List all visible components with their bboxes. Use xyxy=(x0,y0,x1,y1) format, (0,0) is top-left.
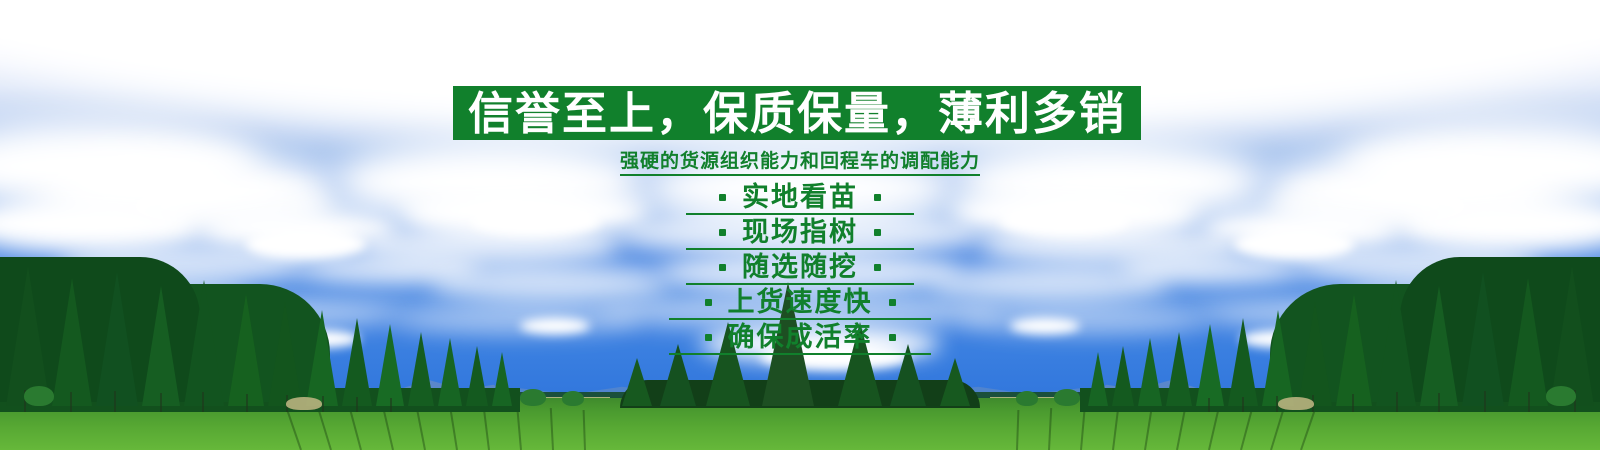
square-dot-icon xyxy=(889,299,896,306)
conifer-tree xyxy=(466,346,488,406)
tree-trunk xyxy=(1438,393,1440,412)
feature-item: 实地看苗 xyxy=(0,180,1600,215)
feature-label: 现场指树 xyxy=(726,219,874,246)
bush xyxy=(520,389,546,406)
feature-item: 确保成活率 xyxy=(0,320,1600,355)
feature-underline xyxy=(669,353,931,355)
conifer-tree xyxy=(492,352,512,406)
conifer-tree xyxy=(622,358,652,406)
feature-label: 实地看苗 xyxy=(726,184,874,211)
tree-trunk xyxy=(1352,394,1354,412)
bush xyxy=(24,386,54,406)
soil-mound xyxy=(286,397,322,410)
bush xyxy=(1546,386,1576,406)
square-dot-icon xyxy=(705,334,712,341)
conifer-tree xyxy=(1112,346,1134,406)
bush xyxy=(1016,391,1038,406)
headline-text: 信誉至上，保质保量，薄利多销 xyxy=(453,86,1141,140)
subtitle: 强硬的货源组织能力和回程车的调配能力 xyxy=(0,146,1600,173)
conifer-tree xyxy=(940,358,970,406)
feature-item: 现场指树 xyxy=(0,215,1600,250)
tree-trunk xyxy=(1484,391,1486,412)
tree-trunk xyxy=(1396,392,1398,412)
square-dot-icon xyxy=(719,264,726,271)
tree-trunk xyxy=(114,391,116,412)
tree-trunk xyxy=(1208,398,1210,412)
feature-item: 随选随挖 xyxy=(0,250,1600,285)
feature-label: 确保成活率 xyxy=(712,324,889,351)
tree-trunk xyxy=(202,392,204,412)
tree-trunk xyxy=(356,397,358,412)
tree-trunk xyxy=(160,393,162,412)
tree-trunk xyxy=(246,394,248,412)
square-dot-icon xyxy=(719,194,726,201)
bush xyxy=(1054,389,1080,406)
tree-trunk xyxy=(1528,392,1530,412)
tree-trunk xyxy=(322,396,324,412)
square-dot-icon xyxy=(874,229,881,236)
square-dot-icon xyxy=(874,264,881,271)
square-dot-icon xyxy=(719,229,726,236)
tree-trunk xyxy=(390,398,392,412)
promo-banner: 信誉至上，保质保量，薄利多销 强硬的货源组织能力和回程车的调配能力 实地看苗 现… xyxy=(0,0,1600,450)
square-dot-icon xyxy=(705,299,712,306)
soil-mound xyxy=(1278,397,1314,410)
bush xyxy=(562,391,584,406)
feature-label: 随选随挖 xyxy=(726,254,874,281)
conifer-tree xyxy=(1088,352,1108,406)
tree-trunk xyxy=(70,392,72,412)
subtitle-text: 强硬的货源组织能力和回程车的调配能力 xyxy=(620,150,980,176)
tree-trunk xyxy=(1242,397,1244,412)
square-dot-icon xyxy=(874,194,881,201)
feature-label: 上货速度快 xyxy=(712,289,889,316)
feature-list: 实地看苗 现场指树 随选随挖 上货速度快 确保成活率 xyxy=(0,180,1600,355)
feature-item: 上货速度快 xyxy=(0,285,1600,320)
square-dot-icon xyxy=(889,334,896,341)
